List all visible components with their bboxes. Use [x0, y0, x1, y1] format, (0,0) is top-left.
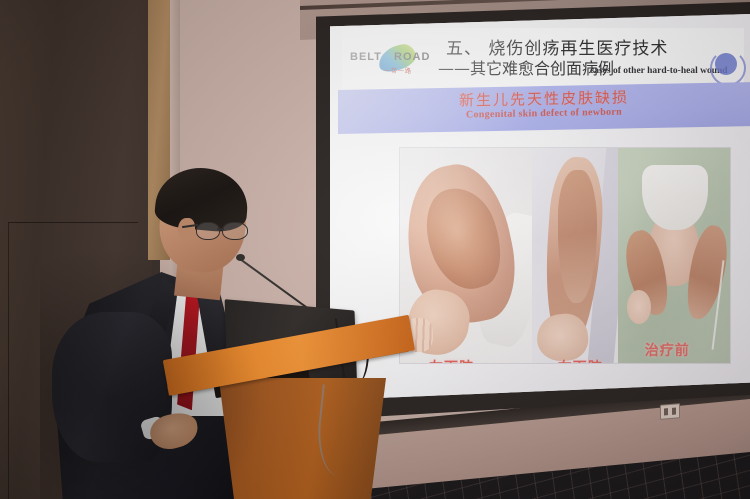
- speaker-ear: [178, 218, 195, 242]
- eyeglass-lens-left: [196, 222, 220, 240]
- logo-word-belt: BELT: [350, 51, 382, 63]
- clinical-photo-panel: 左下肢 右下肢 治疗前: [400, 148, 730, 363]
- photo2-caption: 右下肢: [558, 361, 603, 363]
- photo3-diaper: [642, 165, 707, 230]
- microphone-head-icon: [236, 254, 245, 261]
- eyeglass-lens-right: [222, 222, 248, 240]
- photo3-caption: 治疗前: [645, 344, 690, 359]
- conference-presentation-scene: BELT ROAD 一带一路 五、 烧伤创疡再生医疗技术 ——其它难愈合创面病例…: [0, 0, 750, 499]
- photo1-caption: 左下肢: [429, 361, 474, 363]
- eyeglass-bridge: [217, 228, 224, 230]
- clinical-photo-before-treatment: 治疗前: [618, 148, 730, 363]
- slide-section-band: 新生儿先天性皮肤缺损 Congenital skin defect of new…: [338, 82, 750, 134]
- belt-and-road-logo: BELT ROAD 一带一路: [350, 42, 442, 78]
- logo-word-road: ROAD: [394, 51, 430, 63]
- speaker-eyeglasses-icon: [196, 222, 248, 240]
- slide-header: BELT ROAD 一带一路 五、 烧伤创疡再生医疗技术 ——其它难愈合创面病例…: [342, 28, 744, 90]
- slide-subtitle-english: cases of other hard-to-heal wound: [590, 66, 728, 76]
- who-un-laurel-emblem-icon: [710, 50, 742, 82]
- slide-subtitle-chinese: ——其它难愈合创面病例: [438, 55, 614, 79]
- logo-chinese-tagline: 一带一路: [384, 66, 412, 75]
- emblem-globe: [715, 53, 737, 75]
- clinical-photo-left-limb: 左下肢: [400, 148, 532, 363]
- clinical-photo-right-limb: 右下肢: [532, 148, 618, 363]
- wall-outlet-icon: [660, 403, 680, 420]
